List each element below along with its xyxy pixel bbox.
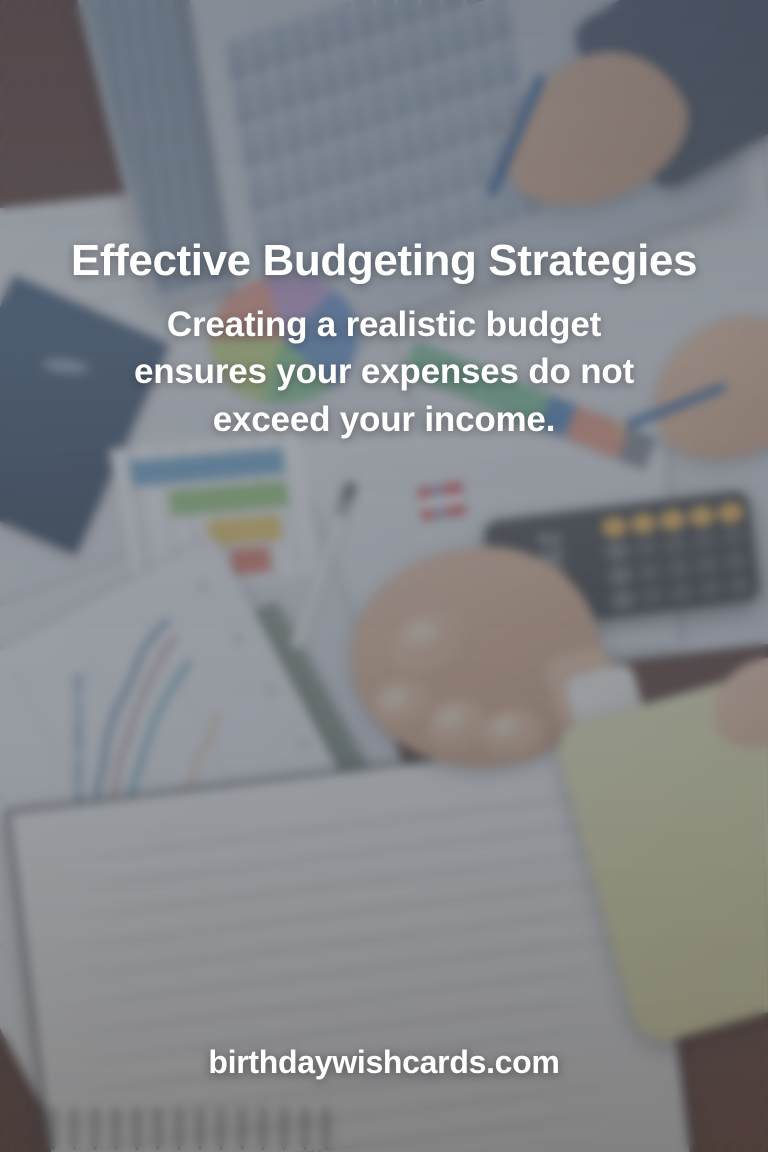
subtitle-line-1: Creating a realistic budget: [74, 301, 694, 349]
subtitle: Creating a realistic budget ensures your…: [74, 301, 694, 444]
subtitle-line-3: exceed your income.: [74, 396, 694, 444]
subtitle-line-2: ensures your expenses do not: [74, 348, 694, 396]
text-overlay: Effective Budgeting Strategies Creating …: [0, 0, 768, 1152]
pinterest-pin-card: Categories: [0, 0, 768, 1152]
site-url-watermark: birthdaywishcards.com: [0, 1044, 768, 1081]
page-title: Effective Budgeting Strategies: [14, 238, 754, 285]
